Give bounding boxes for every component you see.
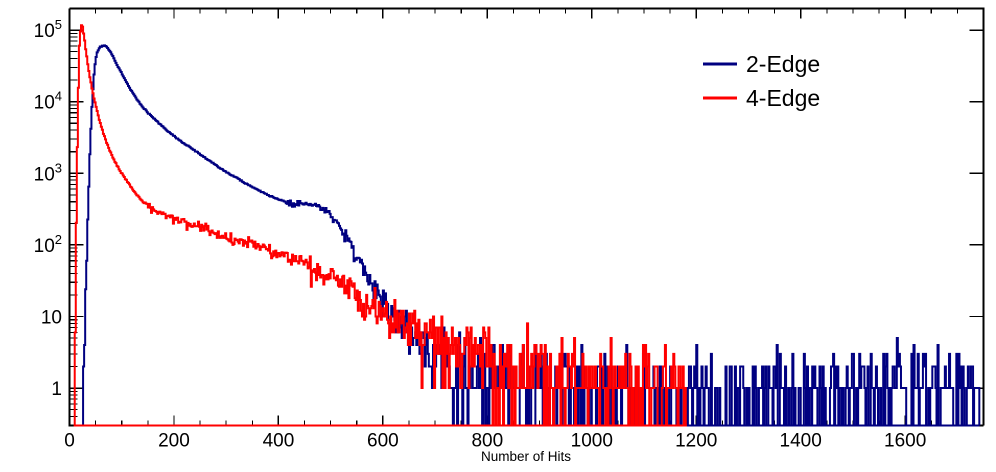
x-axis-tick-label: 1000 [571, 431, 613, 452]
x-axis-tick-label: 600 [367, 431, 399, 452]
plot-canvas: 110102103104105 020040060080010001200140… [0, 0, 996, 472]
histogram-figure: 110102103104105 020040060080010001200140… [0, 0, 996, 472]
series-layer [74, 25, 980, 425]
y-axis-tick-label: 1 [51, 379, 62, 400]
y-axis-tick-label: 102 [34, 232, 62, 257]
legend: 2-Edge4-Edge [703, 51, 820, 111]
y-axis-tick-labels: 110102103104105 [34, 17, 62, 400]
series-4-edge [75, 25, 686, 425]
x-axis-tick-label: 400 [263, 431, 295, 452]
legend-label-2-edge: 2-Edge [746, 51, 820, 77]
y-axis-tick-label: 104 [34, 89, 62, 114]
x-axis-tick-label: 1400 [780, 431, 822, 452]
y-axis-tick-label: 105 [34, 17, 62, 42]
x-axis-tick-label: 1600 [884, 431, 926, 452]
x-axis-tick-label: 200 [158, 431, 190, 452]
x-axis-tick-label: 1200 [675, 431, 717, 452]
y-axis-tick-label: 10 [41, 307, 62, 328]
x-axis-tick-label: 0 [64, 431, 75, 452]
legend-label-4-edge: 4-Edge [746, 85, 820, 111]
y-axis-tick-label: 103 [34, 160, 62, 185]
x-axis-title: Number of Hits [481, 449, 571, 464]
